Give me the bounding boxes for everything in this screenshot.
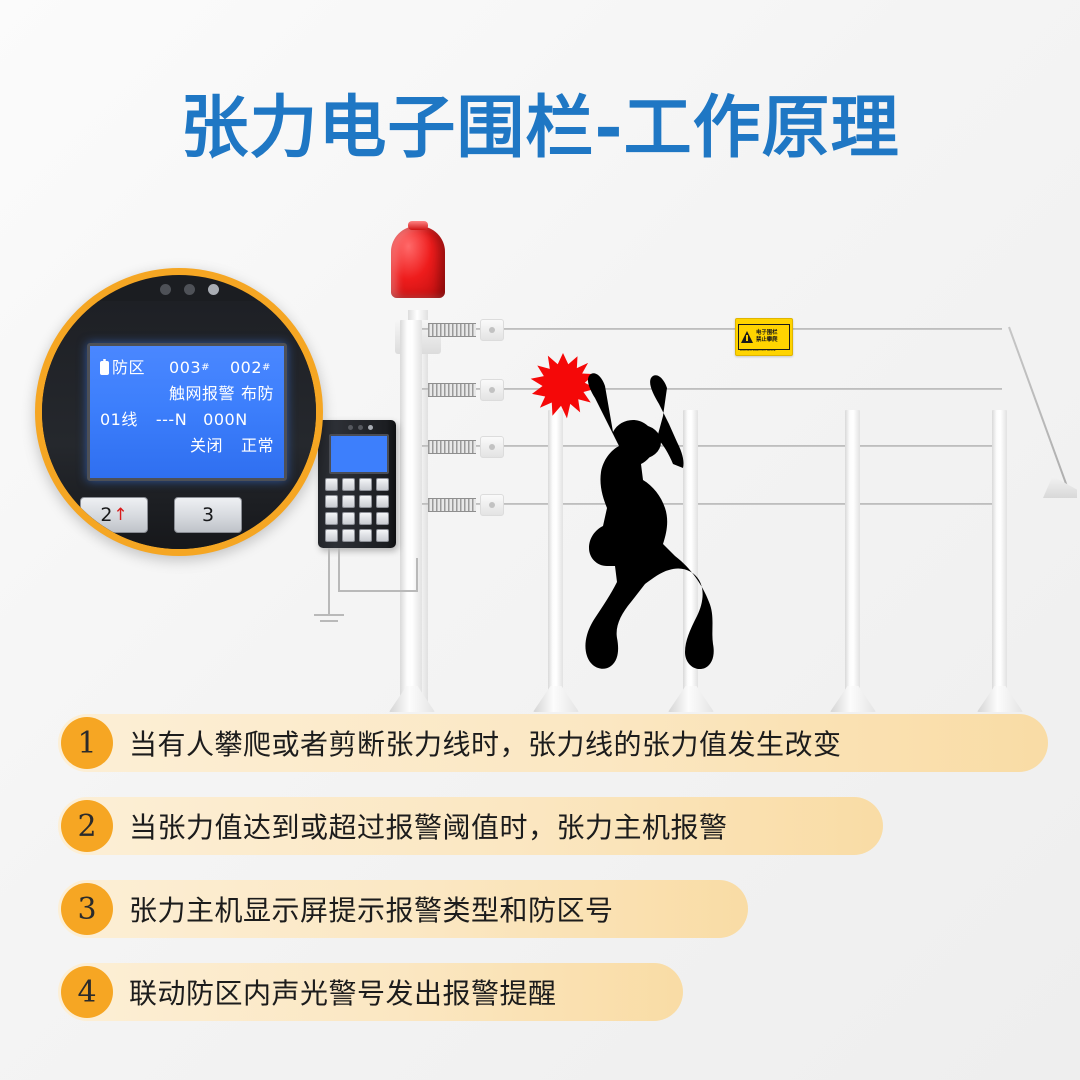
controller-link-wire-h xyxy=(338,590,418,592)
tension-spring-1 xyxy=(428,323,476,337)
step-badge-1: 1 xyxy=(61,717,113,769)
tension-spring-2 xyxy=(428,383,476,397)
lcd-line-3: 01线 ---N 000N xyxy=(100,407,274,433)
ground-wire-vertical xyxy=(328,548,330,616)
step-badge-4: 4 xyxy=(61,966,113,1018)
step-text-4: 联动防区内声光警号发出报警提醒 xyxy=(129,972,557,1012)
keypad-key[interactable] xyxy=(342,512,355,525)
post-link-wire xyxy=(416,558,418,592)
controller-link-wire-v xyxy=(338,548,340,592)
lcd-zone-a-sup: # xyxy=(201,355,210,381)
keypad-key[interactable] xyxy=(342,529,355,542)
step-badge-3: 3 xyxy=(61,883,113,935)
keypad-key-2-label: 2 xyxy=(100,504,112,526)
lcd-line-no: 01线 xyxy=(100,407,138,433)
infographic-canvas: 张力电子围栏-工作原理 xyxy=(0,0,1080,1080)
beacon-top-cap xyxy=(408,221,428,230)
step-text-3: 张力主机显示屏提示报警类型和防区号 xyxy=(129,889,614,929)
warning-triangle-icon xyxy=(741,331,754,343)
lcd-line-2: 触网报警 布防 xyxy=(100,381,274,407)
step-item-1: 1 当有人攀爬或者剪断张力线时，张力线的张力值发生改变 xyxy=(58,714,1048,772)
controller-keypad[interactable] xyxy=(325,478,389,542)
fence-post-base-5 xyxy=(977,686,1023,712)
magnified-led-1 xyxy=(160,284,171,295)
warning-sign-frame: 电子围栏 禁止攀爬 xyxy=(738,324,790,350)
keypad-key[interactable] xyxy=(376,512,389,525)
warning-sign: 电子围栏 禁止攀爬 WARNING ELECTRIC FENCE xyxy=(735,318,793,356)
magnified-led-row xyxy=(160,284,219,295)
keypad-key[interactable] xyxy=(376,478,389,491)
fence-post-base-1 xyxy=(389,686,435,712)
insulator-2 xyxy=(480,379,504,401)
lcd-magnifier-inset: 防区 003# 002# 触网报警 布防 01线 ---N 000N 关闭 xyxy=(35,268,323,556)
lcd-arm-state: 布防 xyxy=(241,381,274,407)
keypad-key-3[interactable]: 3 xyxy=(174,497,242,533)
lcd-zone-a: 003 xyxy=(169,355,201,381)
fence-post-4 xyxy=(845,410,860,710)
warning-sign-text: 电子围栏 禁止攀爬 xyxy=(756,330,778,344)
keypad-key[interactable] xyxy=(359,529,372,542)
magnified-led-2 xyxy=(184,284,195,295)
controller-lcd-small xyxy=(329,434,389,474)
tension-wire-1 xyxy=(422,328,1002,330)
tension-spring-4 xyxy=(428,498,476,512)
lcd-zone-b: 002 xyxy=(230,355,262,381)
lcd-value-b: 000N xyxy=(203,407,248,433)
fence-post-base-3 xyxy=(668,686,714,712)
insulator-1 xyxy=(480,319,504,341)
keypad-key[interactable] xyxy=(325,512,338,525)
lcd-line-4: 关闭 正常 xyxy=(100,433,274,459)
alarm-beacon-light xyxy=(391,226,445,298)
insulator-4 xyxy=(480,494,504,516)
keypad-key[interactable] xyxy=(359,495,372,508)
magnified-keypad-row[interactable]: 2 ↑ 3 xyxy=(80,497,292,533)
keypad-key[interactable] xyxy=(325,529,338,542)
warning-sign-footer: WARNING ELECTRIC FENCE xyxy=(740,349,776,353)
fence-post-base-2 xyxy=(533,686,579,712)
guy-wire-brace xyxy=(1008,327,1069,489)
fence-post-1 xyxy=(400,320,422,710)
keypad-key-2[interactable]: 2 ↑ xyxy=(80,497,148,533)
fence-post-5-end xyxy=(992,410,1007,710)
tension-controller-unit[interactable] xyxy=(318,420,396,548)
lcd-status-a: 关闭 xyxy=(190,433,223,459)
magnified-led-3 xyxy=(208,284,219,295)
controller-led-3 xyxy=(368,425,373,430)
tension-spring-3 xyxy=(428,440,476,454)
controller-led-row xyxy=(348,425,373,430)
step-item-3: 3 张力主机显示屏提示报警类型和防区号 xyxy=(58,880,1048,938)
arrow-up-icon: ↑ xyxy=(113,505,127,525)
controller-led-2 xyxy=(358,425,363,430)
guy-wire-anchor xyxy=(1043,476,1077,498)
fence-post-base-4 xyxy=(830,686,876,712)
step-item-4: 4 联动防区内声光警号发出报警提醒 xyxy=(58,963,1048,1021)
ground-symbol-bar2 xyxy=(320,620,338,622)
lcd-status-b: 正常 xyxy=(241,433,274,459)
lcd-display: 防区 003# 002# 触网报警 布防 01线 ---N 000N 关闭 xyxy=(87,343,287,481)
lcd-value-a: ---N xyxy=(156,407,187,433)
keypad-key[interactable] xyxy=(325,478,338,491)
warning-sign-line2: 禁止攀爬 xyxy=(756,337,778,344)
keypad-key-3-label: 3 xyxy=(202,504,214,526)
controller-led-1 xyxy=(348,425,353,430)
keypad-key[interactable] xyxy=(376,529,389,542)
insulator-3 xyxy=(480,436,504,458)
battery-icon xyxy=(100,361,109,375)
keypad-key[interactable] xyxy=(359,478,372,491)
step-text-1: 当有人攀爬或者剪断张力线时，张力线的张力值发生改变 xyxy=(129,723,842,763)
ground-symbol-bar1 xyxy=(314,614,344,616)
climbing-person-silhouette xyxy=(545,368,715,673)
keypad-key[interactable] xyxy=(325,495,338,508)
keypad-key[interactable] xyxy=(359,512,372,525)
lcd-zone-label: 防区 xyxy=(112,355,145,381)
step-text-2: 当张力值达到或超过报警阈值时，张力主机报警 xyxy=(129,806,728,846)
step-badge-2: 2 xyxy=(61,800,113,852)
steps-list: 1 当有人攀爬或者剪断张力线时，张力线的张力值发生改变 2 当张力值达到或超过报… xyxy=(58,714,1048,1046)
step-item-2: 2 当张力值达到或超过报警阈值时，张力主机报警 xyxy=(58,797,1048,855)
lcd-alarm-type: 触网报警 xyxy=(169,381,235,407)
keypad-key[interactable] xyxy=(342,478,355,491)
lcd-line-1: 防区 003# 002# xyxy=(100,355,274,381)
page-title: 张力电子围栏-工作原理 xyxy=(0,72,1080,171)
keypad-key[interactable] xyxy=(342,495,355,508)
keypad-key[interactable] xyxy=(376,495,389,508)
lcd-zone-b-sup: # xyxy=(262,355,271,381)
warning-sign-line1: 电子围栏 xyxy=(756,330,778,337)
